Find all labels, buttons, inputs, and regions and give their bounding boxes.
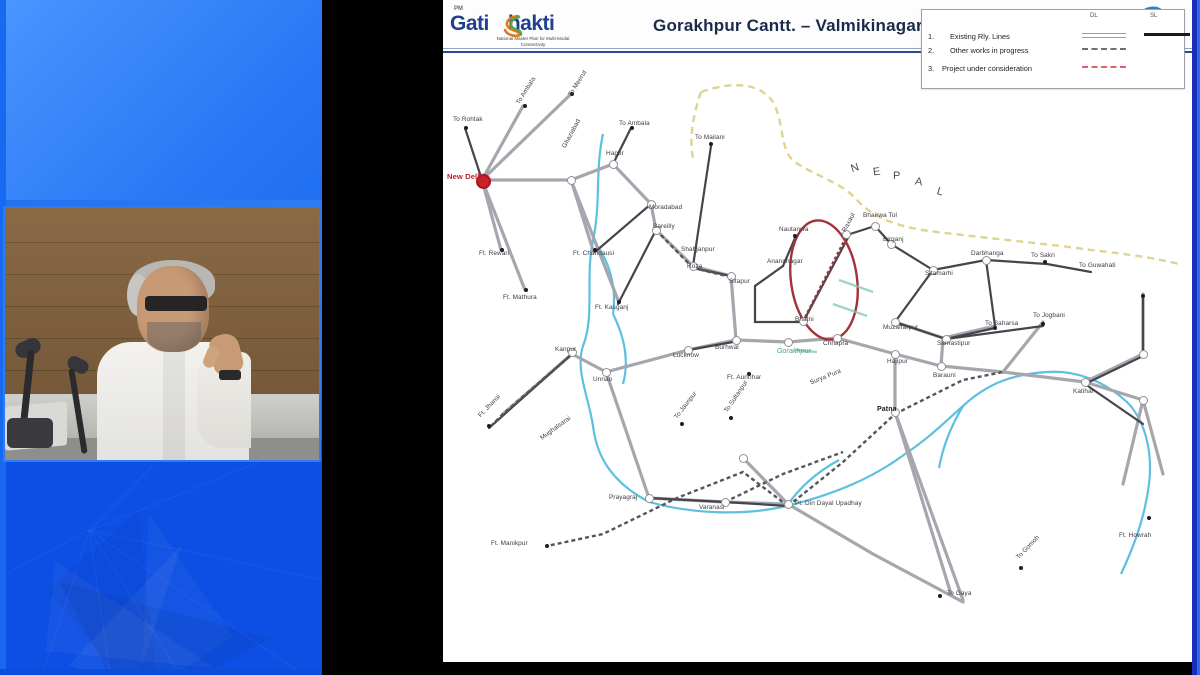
label-sitapur: Sitapur	[729, 278, 750, 285]
broadcast-screen: PM Gatihakti National Master Plan for Mu…	[0, 0, 1200, 675]
station-node-katihar[interactable]	[1081, 378, 1090, 387]
river-network	[581, 134, 1150, 574]
label-to-rohtak: To Rohtak	[453, 116, 483, 123]
label-ft-chandausi: Ft. Chandausi	[573, 250, 614, 257]
label-ft-mathura: Ft. Mathura	[503, 294, 537, 301]
terminus-node-jhansi[interactable]	[487, 424, 491, 428]
label-varanasi: Varanasi	[699, 504, 725, 511]
presentation-slide: PM Gatihakti National Master Plan for Mu…	[443, 0, 1193, 662]
gatishakti-swoosh-icon	[502, 14, 524, 38]
label-new-delhi: New Delhi	[447, 172, 484, 181]
label-to-mailani: To Mailani	[695, 134, 725, 141]
station-node-ddu[interactable]	[784, 500, 793, 509]
label-ft-kasganj: Ft. Kasganj	[595, 304, 628, 311]
terminus-node-jogbani[interactable]	[1041, 322, 1045, 326]
legend-col-sl: SL	[1150, 13, 1157, 19]
station-node-hapur[interactable]	[609, 160, 618, 169]
wristwatch	[219, 370, 241, 380]
label-hajipur: Hajipur	[887, 358, 908, 365]
station-node-east-junction[interactable]	[1139, 350, 1148, 359]
label-sitamarhi: Sitamarhi	[925, 270, 953, 277]
terminus-node-sakri[interactable]	[1043, 260, 1047, 264]
map-country-label-e: E	[872, 165, 882, 178]
label-bhatni: Bhatni	[795, 316, 814, 323]
terminus-node-gomoh[interactable]	[1019, 566, 1023, 570]
label-to-ambala-2: To Ambala	[619, 120, 650, 127]
legend-sample-1-dl	[1082, 33, 1126, 38]
station-node-prayagraj[interactable]	[645, 494, 654, 503]
label-hapur: Hapur	[606, 150, 624, 157]
legend-label-1: Existing Rly. Lines	[950, 32, 1010, 41]
label-patna: Patna	[877, 406, 897, 413]
label-bhairwa-tol: Bhairwa Tol	[863, 212, 897, 219]
legend-sample-2-dl	[1082, 48, 1126, 50]
label-ft-rewari: Ft. Rewari	[479, 250, 509, 257]
label-ft-manikpur: Ft. Manikpur	[491, 540, 528, 547]
terminus-node-guwahati[interactable]	[1141, 294, 1145, 298]
label-prayagraj: Prayagraj	[609, 494, 637, 501]
legend-col-dl: DL	[1090, 13, 1098, 19]
label-ddu: Pt. Din Dayal Upadhay	[795, 500, 862, 507]
label-anandnagar: Anandnagar	[767, 258, 803, 265]
station-node-barauni[interactable]	[937, 362, 946, 371]
label-to-sakri: To Sakri	[1031, 252, 1055, 259]
terminus-node-jaunpur[interactable]	[680, 422, 684, 426]
terminus-node-rohtak[interactable]	[464, 126, 468, 130]
terminus-node-howrah[interactable]	[1147, 516, 1151, 520]
microphone-base	[7, 418, 53, 448]
label-ft-howrah: Ft. Howrah	[1119, 532, 1151, 539]
label-birganj: Birganj	[883, 236, 904, 243]
speaker-video-feed[interactable]	[3, 206, 321, 462]
map-country-label-p: P	[893, 170, 901, 182]
station-node-darbhanga[interactable]	[982, 256, 991, 265]
label-katihar: Katihar	[1073, 388, 1094, 395]
station-node-bhairwa-tol[interactable]	[871, 222, 880, 231]
label-nautanwa: Nautanwa	[779, 226, 809, 233]
label-barauni: Barauni	[933, 372, 956, 379]
terminus-node-mailani[interactable]	[709, 142, 713, 146]
legend-sample-1-sl	[1144, 33, 1190, 36]
existing-lines-grey	[482, 94, 1163, 602]
label-to-jogbani: To Jogbani	[1033, 312, 1065, 319]
label-lucknow: Lucknow	[673, 352, 699, 359]
station-node-surya-pura[interactable]	[739, 454, 748, 463]
terminus-node-manikpur[interactable]	[545, 544, 549, 548]
label-roza: Roza	[687, 263, 702, 270]
label-bareilly: Bareilly	[653, 223, 675, 230]
map-vector-layer	[443, 54, 1193, 662]
eyeglasses	[145, 296, 207, 311]
gatishakti-tagline: National Master Plan for Multi-Modal Con…	[496, 36, 570, 47]
label-to-saharsa: To Saharsa	[985, 320, 1018, 327]
terminus-node-gaya[interactable]	[938, 594, 942, 598]
label-kanpur: Kanpur	[555, 346, 576, 353]
terminus-node-ambala-1[interactable]	[523, 104, 527, 108]
legend-num-1: 1.	[928, 32, 934, 41]
terminus-node-nautanwa[interactable]	[793, 234, 797, 238]
gatishakti-name-first: Gati	[450, 12, 489, 35]
terminus-node-mathura[interactable]	[524, 288, 528, 292]
station-node-east-junction-2[interactable]	[1139, 396, 1148, 405]
railway-network-map: N E P A L New Delhi To Rohtak To Ambala …	[443, 54, 1193, 662]
nepal-border	[701, 85, 1179, 264]
label-samastipur: Samastipur	[937, 340, 970, 347]
label-darbhanga: Darbhanga	[971, 250, 1004, 257]
label-muzaffarpur: Muzaffarpur	[883, 324, 918, 331]
label-unnao: Unnao	[593, 376, 612, 383]
label-gorakhpur: Gorakhpur	[777, 348, 811, 355]
label-burhwal: Burhwal	[715, 344, 739, 351]
label-moradabad: Moradabad	[649, 204, 682, 211]
station-node-gorakhpur[interactable]	[784, 338, 793, 347]
label-shahjanpur: Shahjanpur	[681, 246, 715, 253]
station-node-ghaziabad[interactable]	[567, 176, 576, 185]
speaker-figure	[93, 260, 253, 460]
label-chhapra: Chhapra	[823, 340, 848, 347]
label-to-gaya: To Gaya	[947, 590, 972, 597]
label-to-guwahati: To Guwahati	[1079, 262, 1116, 269]
terminus-node-sultanpur[interactable]	[729, 416, 733, 420]
gatishakti-logo: PM Gatihakti National Master Plan for Mu…	[450, 6, 572, 50]
map-country-label-a: A	[914, 175, 924, 188]
